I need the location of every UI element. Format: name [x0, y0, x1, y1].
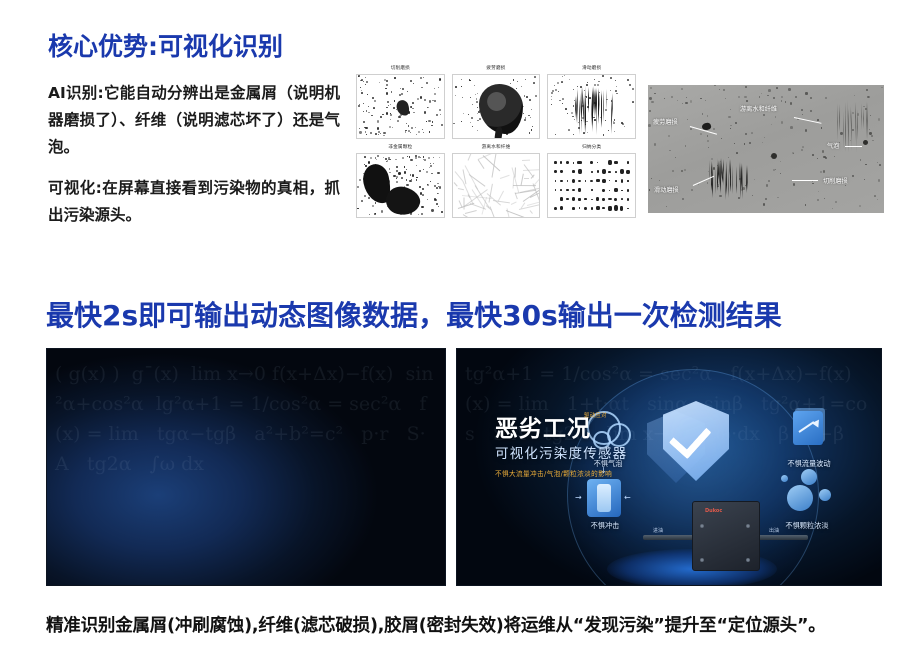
- panel-right-title: 恶劣工况: [495, 409, 591, 443]
- pipe-in-label: 进油: [653, 527, 663, 534]
- device-logo: Dukoc: [705, 508, 722, 514]
- flow-chart-icon: [793, 411, 823, 445]
- particle-density-icon: [777, 469, 837, 517]
- poster-page: 核心优势:可视化识别 AI识别:它能自动分辨出是金属屑（说明机器磨损了）、纤维（…: [0, 0, 922, 661]
- grid-cell-label: 非金属颗粒: [356, 145, 445, 151]
- callout-leader: [845, 146, 862, 147]
- micrograph-grid: 切削磨损 疲劳磨损 滑动磨损 非金属颗粒: [356, 66, 636, 218]
- feature-label-flow: 不惧流量波动: [775, 459, 843, 469]
- section1-paragraph-ai: AI识别:它能自动分辨出是金属屑（说明机器磨损了）、纤维（说明滤芯坏了）还是气泡…: [48, 80, 340, 161]
- classified-particle-array: [552, 158, 631, 213]
- grid-cell-water-fiber: 游离水和纤维: [452, 145, 541, 218]
- dark-particles: [357, 154, 444, 217]
- panel-right-orange-line: 不惧大流量冲击/气泡/颗粒浓淡的影响: [495, 468, 612, 478]
- micrograph-image: [452, 153, 541, 218]
- callout-label-cutting: 切削磨损: [823, 178, 848, 186]
- inlet-pipe: [643, 535, 695, 540]
- macrograph-panel: 疲劳磨损 游离水和纤维 气泡 滑动磨损 切削磨损: [648, 85, 884, 213]
- panel-harsh-conditions: tg²α+1 = 1/cos²α = sec²α f(x+Δx)−f(x) (x…: [456, 348, 882, 586]
- callout-label-bubble: 气泡: [827, 143, 839, 151]
- sliding-wear-streaks: [709, 157, 747, 193]
- grid-cell-classification: 归纳分类: [547, 145, 636, 218]
- grid-cell-nonmetal-particles: 非金属颗粒: [356, 145, 445, 218]
- panel-image-method: ( g(x) ) g¯(x) lim x→0 f(x+Δx)−f(x) sin²…: [46, 348, 446, 586]
- fiber-threads: [453, 154, 540, 217]
- air-bubble-large: [771, 153, 777, 159]
- grid-cell-label: 疲劳磨损: [452, 66, 541, 72]
- pipe-out-label: 出油: [769, 527, 779, 534]
- micrograph-image: [452, 74, 541, 139]
- grid-cell-fatigue-wear: 疲劳磨损: [452, 66, 541, 139]
- sensor-device-right: Dukoc: [692, 501, 760, 571]
- grid-cell-label: 归纳分类: [547, 145, 636, 151]
- impact-resist-icon: [587, 479, 621, 517]
- grid-cell-label: 切削磨损: [356, 66, 445, 72]
- callout-leader: [792, 180, 818, 181]
- air-bubble: [863, 140, 868, 145]
- footer-caption: 精准识别金属屑(冲刷腐蚀),纤维(滤芯破损),胶屑(密封失效)将运维从“发现污染…: [46, 612, 886, 637]
- feature-label-impact: 不惧冲击: [581, 521, 629, 531]
- micrograph-image: [547, 74, 636, 139]
- fiber-bundle: [837, 100, 868, 144]
- section1-paragraph-visual: 可视化:在屏幕直接看到污染物的真相，抓出污染源头。: [48, 175, 340, 229]
- micrograph-image: [356, 74, 445, 139]
- grid-cell-label: 游离水和纤维: [452, 145, 541, 151]
- grid-cell-label: 滑动磨损: [547, 66, 636, 72]
- callout-label-water-fiber: 游离水和纤维: [740, 106, 777, 114]
- panel-right-subtitle: 可视化污染度传感器: [495, 442, 627, 462]
- outlet-pipe: [756, 535, 808, 540]
- callout-label-sliding: 滑动磨损: [654, 187, 679, 195]
- section2-title: 最快2s即可输出动态图像数据，最快30s输出一次检测结果: [46, 294, 782, 334]
- section1-body: AI识别:它能自动分辨出是金属屑（说明机器磨损了）、纤维（说明滤芯坏了）还是气泡…: [48, 80, 340, 243]
- math-formula-backdrop: ( g(x) ) g¯(x) lim x→0 f(x+Δx)−f(x) sin²…: [47, 349, 445, 585]
- callout-label-fatigue: 疲劳磨损: [653, 119, 678, 127]
- grid-cell-sliding-wear: 滑动磨损: [547, 66, 636, 139]
- section1-title: 核心优势:可视化识别: [48, 27, 283, 63]
- micrograph-image: [356, 153, 445, 218]
- streak-pattern: [574, 86, 614, 126]
- feature-label-particle: 不惧颗粒浓淡: [771, 521, 843, 531]
- grid-cell-cutting-wear: 切削磨损: [356, 66, 445, 139]
- panel-right-title-superscript: 驱动应对: [584, 411, 607, 419]
- micrograph-image: [547, 153, 636, 218]
